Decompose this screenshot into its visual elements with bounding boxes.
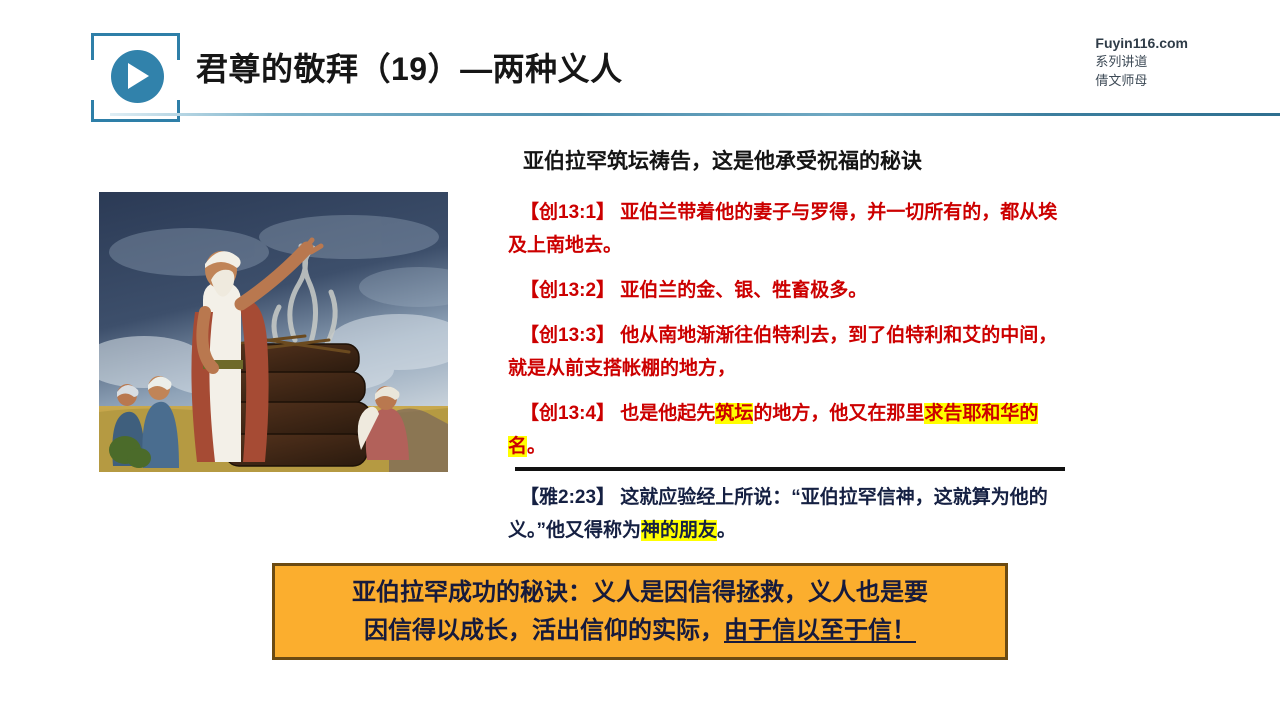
header-divider xyxy=(110,113,1280,116)
verse-text: 亚伯兰的金、银、牲畜极多。 xyxy=(615,280,867,301)
content-heading: 亚伯拉罕筑坛祷告，这是他承受祝福的秘诀 xyxy=(523,145,922,175)
scripture-verse: 【创13:4】 也是他起先筑坛的地方，他又在那里求告耶和华的名。 xyxy=(508,397,1074,463)
slide: 君尊的敬拜（19）—两种义人 Fuyin116.com 系列讲道 倩文师母 xyxy=(0,0,1280,720)
conclusion-line-2-plain: 因信得以成长，活出信仰的实际， xyxy=(364,617,724,644)
section-divider xyxy=(515,467,1065,471)
page-title: 君尊的敬拜（19）—两种义人 xyxy=(196,44,623,90)
brand-series: 系列讲道 xyxy=(1095,53,1188,72)
james-verse: 【雅2:23】 这就应验经上所说：“亚伯拉罕信神，这就算为他的义。”他又得称为神… xyxy=(508,481,1074,547)
highlighted-phrase: 神的朋友 xyxy=(641,520,717,541)
verse-reference: 【创13:4】 xyxy=(520,403,615,424)
play-triangle-icon xyxy=(128,63,149,89)
verse-reference: 【创13:1】 xyxy=(520,202,615,223)
conclusion-text: 亚伯拉罕成功的秘诀：义人是因信得拯救，义人也是要 因信得以成长，活出信仰的实际，… xyxy=(340,574,940,650)
play-button-icon[interactable] xyxy=(111,50,164,103)
abraham-altar-illustration xyxy=(99,192,448,472)
verse-text: 的地方，他又在那里 xyxy=(753,403,924,424)
brand-speaker: 倩文师母 xyxy=(1095,72,1188,91)
scripture-verse: 【创13:2】 亚伯兰的金、银、牲畜极多。 xyxy=(508,274,1074,307)
conclusion-line-2: 因信得以成长，活出信仰的实际，由于信以至于信！ xyxy=(352,612,928,650)
verse-text: 。 xyxy=(717,520,736,541)
brand-site: Fuyin116.com xyxy=(1095,33,1188,53)
scripture-verse: 【创13:1】 亚伯兰带着他的妻子与罗得，并一切所有的，都从埃及上南地去。 xyxy=(508,196,1074,262)
conclusion-box: 亚伯拉罕成功的秘诀：义人是因信得拯救，义人也是要 因信得以成长，活出信仰的实际，… xyxy=(272,563,1008,660)
verse-reference: 【创13:3】 xyxy=(520,325,615,346)
verse-text: 也是他起先 xyxy=(615,403,715,424)
conclusion-line-1: 亚伯拉罕成功的秘诀：义人是因信得拯救，义人也是要 xyxy=(352,574,928,612)
scripture-verse: 【创13:3】 他从南地渐渐往伯特利去，到了伯特利和艾的中间，就是从前支搭帐棚的… xyxy=(508,319,1074,385)
conclusion-line-2-underlined: 由于信以至于信！ xyxy=(724,617,916,644)
slide-header: 君尊的敬拜（19）—两种义人 Fuyin116.com 系列讲道 倩文师母 xyxy=(0,0,1280,122)
verse-reference: 【创13:2】 xyxy=(520,280,615,301)
scripture-list: 【创13:1】 亚伯兰带着他的妻子与罗得，并一切所有的，都从埃及上南地去。【创1… xyxy=(508,196,1074,463)
illustration-image xyxy=(99,192,448,472)
scripture-verse: 【雅2:23】 这就应验经上所说：“亚伯拉罕信神，这就算为他的义。”他又得称为神… xyxy=(508,481,1074,547)
brand-block: Fuyin116.com 系列讲道 倩文师母 xyxy=(1095,33,1188,91)
verse-text: 。 xyxy=(527,436,546,457)
highlighted-phrase: 筑坛 xyxy=(715,403,753,424)
verse-reference: 【雅2:23】 xyxy=(520,487,615,508)
